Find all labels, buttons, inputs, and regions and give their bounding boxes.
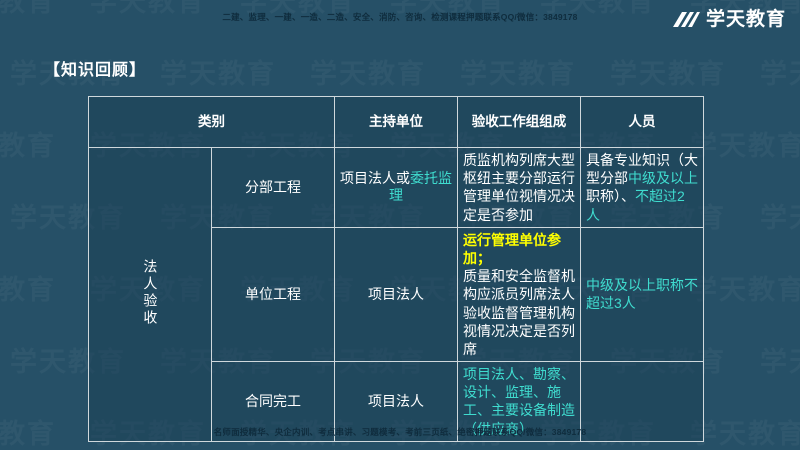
watermark-text: 学天教育 [0, 124, 56, 163]
row-2-host-unit-plain: 项目法人 [368, 393, 424, 409]
row-1-host-unit-plain: 项目法人 [368, 286, 424, 302]
column-header-personnel: 人员 [581, 97, 704, 148]
row-0-host-unit: 项目法人或委托监理 [335, 148, 458, 228]
acceptance-table: 类别 主持单位 验收工作组组成 人员 法人验收 分部工程 项目法人或委托监理 质… [88, 96, 704, 442]
row-0-workgroup-text: 质监机构列席大型枢纽主要分部运行管理单位视情况决定是否参加 [463, 152, 575, 223]
footer-promo-text: 名师面授精华、央企内训、考点串讲、习题模考、考前三页纸、绝密押题联系QQ/微信：… [0, 426, 800, 438]
row-0-workgroup: 质监机构列席大型枢纽主要分部运行管理单位视情况决定是否参加 [458, 148, 581, 228]
page-title: 【知识回顾】 [44, 56, 146, 80]
table-header-row: 类别 主持单位 验收工作组组成 人员 [89, 97, 704, 148]
row-1-host-unit: 项目法人 [335, 227, 458, 361]
watermark-text: 学天教育 [460, 52, 576, 91]
row-0-personnel-highlight-1: 中级及以上 [628, 170, 698, 186]
row-1-workgroup-text: 质量和安全监督机构应派员列席法人验收监督管理机构视情况决定是否列席 [463, 267, 575, 358]
column-header-workgroup: 验收工作组组成 [458, 97, 581, 148]
watermark-text: 学天教育 [310, 52, 426, 91]
top-bar: 二建、监理、一建、一造、二造、安全、消防、咨询、检测课程押题联系QQ/微信：38… [0, 0, 800, 42]
watermark-text: 学天教育 [0, 268, 56, 307]
row-1-personnel-highlight-1: 中级及以上职称不超过3人 [586, 277, 698, 311]
row-0-personnel-plain-2: 职称）、 [586, 188, 635, 204]
watermark-text: 学天教育 [690, 268, 800, 307]
row-0-host-unit-plain: 项目法人或 [340, 170, 410, 186]
category-label-vertical-text: 法人验收 [143, 259, 158, 327]
watermark-text: 学天教育 [760, 196, 800, 235]
table-row: 法人验收 分部工程 项目法人或委托监理 质监机构列席大型枢纽主要分部运行管理单位… [89, 148, 704, 228]
row-1-subcategory: 单位工程 [212, 227, 335, 361]
row-1-workgroup: 运行管理单位参加； 质量和安全监督机构应派员列席法人验收监督管理机构视情况决定是… [458, 227, 581, 361]
brand-logo: 学天教育 [671, 10, 786, 29]
row-1-workgroup-highlight-lead: 运行管理单位参加； [463, 231, 575, 267]
column-header-host-unit: 主持单位 [335, 97, 458, 148]
brand-name: 学天教育 [706, 10, 786, 29]
row-0-subcategory: 分部工程 [212, 148, 335, 228]
watermark-text: 学天教育 [160, 52, 276, 91]
row-0-personnel: 具备专业知识（大型分部中级及以上职称）、不超过2人 [581, 148, 704, 228]
slanted-stripes-icon [671, 10, 701, 29]
watermark-text: 学天教育 [690, 124, 800, 163]
knowledge-review-table: 类别 主持单位 验收工作组组成 人员 法人验收 分部工程 项目法人或委托监理 质… [88, 96, 704, 442]
category-label-cell: 法人验收 [89, 148, 212, 442]
row-1-personnel: 中级及以上职称不超过3人 [581, 227, 704, 361]
watermark-text: 学天教育 [760, 340, 800, 379]
watermark-text: 学天教育 [760, 52, 800, 91]
column-header-category: 类别 [89, 97, 335, 148]
watermark-text: 学天教育 [610, 52, 726, 91]
